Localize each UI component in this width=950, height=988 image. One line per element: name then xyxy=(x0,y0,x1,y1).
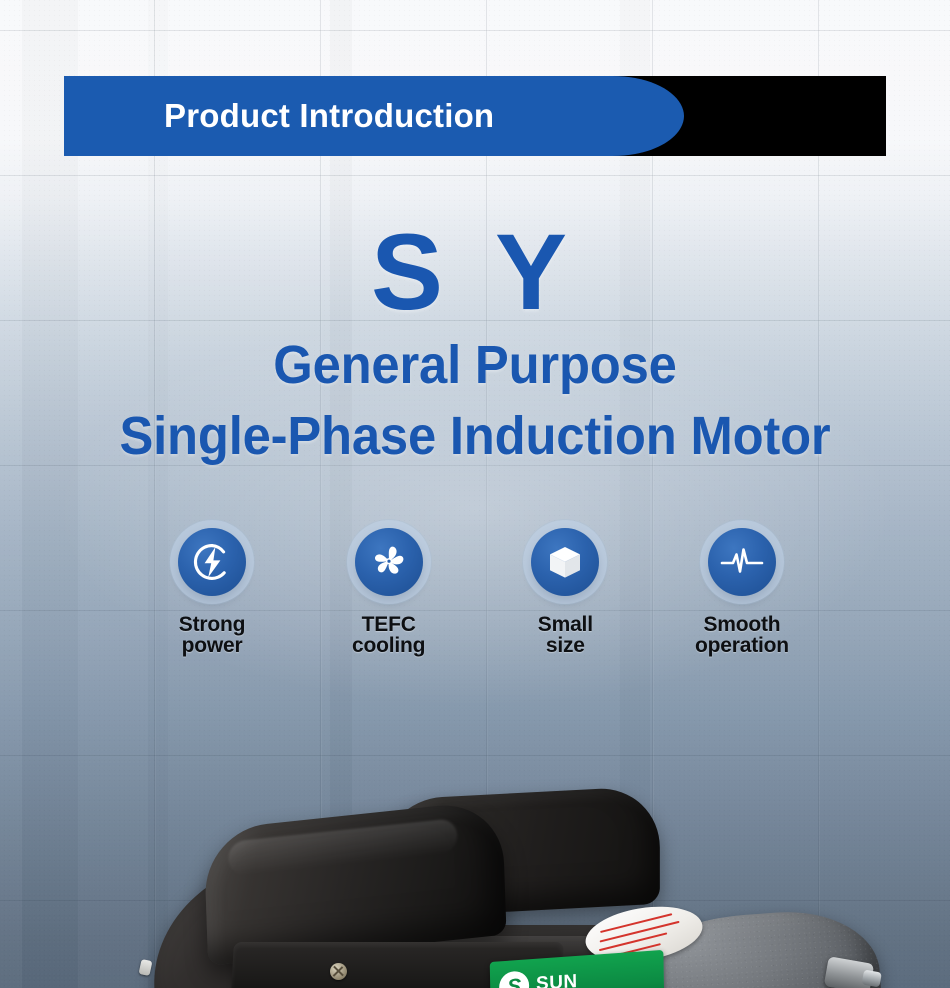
cube-box-icon xyxy=(531,528,599,596)
feature-label-line-1: Small xyxy=(485,614,645,635)
feature-label-line-1: Smooth xyxy=(662,614,822,635)
banner-title: Product Introduction xyxy=(164,76,494,156)
headline-block: S Y General Purpose Single-Phase Inducti… xyxy=(0,222,950,465)
feature-label-line-1: TEFC xyxy=(309,614,469,635)
product-introduction-page: Product Introduction S Y General Purpose… xyxy=(0,0,950,988)
lightning-bolt-icon xyxy=(178,528,246,596)
headline-line-2: Single-Phase Induction Motor xyxy=(29,408,922,465)
sticker-line xyxy=(599,932,667,951)
pulse-waveform-icon xyxy=(708,528,776,596)
feature-item-small-size: Small size xyxy=(485,522,645,657)
feature-label-smooth-operation: Smooth operation xyxy=(662,614,822,657)
brand-label-text: SUN xyxy=(536,971,578,988)
motor-wire-clip xyxy=(139,959,153,976)
feature-item-smooth-operation: Smooth operation xyxy=(662,522,822,657)
section-banner: Product Introduction xyxy=(64,76,886,156)
feature-label-small-size: Small size xyxy=(485,614,645,657)
feature-list: Strong power xyxy=(132,522,822,657)
feature-label-line-1: Strong xyxy=(132,614,292,635)
motor-screw xyxy=(330,963,347,980)
feature-label-line-2: operation xyxy=(662,635,822,656)
feature-label-strong-power: Strong power xyxy=(132,614,292,657)
fan-icon xyxy=(355,528,423,596)
series-name: S Y xyxy=(0,222,950,321)
feature-label-line-2: power xyxy=(132,635,292,656)
feature-item-strong-power: Strong power xyxy=(132,522,292,657)
headline-line-1: General Purpose xyxy=(29,337,922,394)
sticker-line xyxy=(600,913,672,933)
feature-label-tefc-cooling: TEFC cooling xyxy=(309,614,469,657)
product-photo-motor: S SUN xyxy=(0,760,950,988)
feature-label-line-2: cooling xyxy=(309,635,469,656)
feature-label-line-2: size xyxy=(485,635,645,656)
brand-logo-icon: S xyxy=(499,970,529,988)
feature-item-tefc-cooling: TEFC cooling xyxy=(309,522,469,657)
